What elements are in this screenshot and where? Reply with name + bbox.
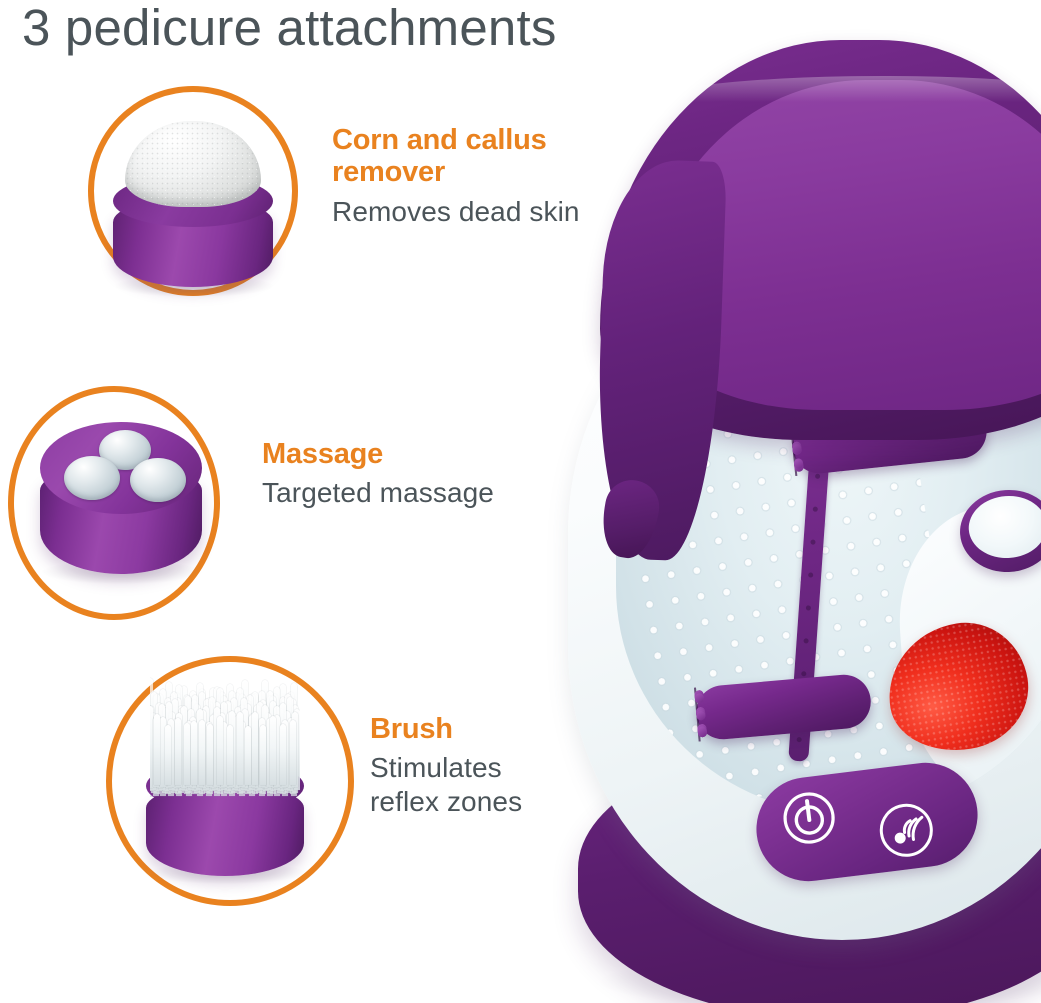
brush-bristle: [270, 716, 276, 785]
brush-bristle: [252, 712, 258, 785]
infographic-page: 3 pedicure attachments Corn and callus r…: [0, 0, 1041, 1003]
brush-bristle: [191, 721, 197, 785]
feature-text-massage: Massage Targeted massage: [262, 438, 494, 510]
feature-text-corn-and-callus-remover: Corn and callus remover Removes dead ski…: [332, 124, 580, 229]
massage-nub: [130, 458, 186, 502]
hood-highlight-seam: [648, 76, 1041, 102]
foot-spa-massager: [560, 40, 1041, 1000]
feature-description-corn: Removes dead skin: [332, 195, 580, 229]
feature-text-brush: Brush Stimulates reflex zones: [370, 713, 522, 819]
attachment-purple-base: [146, 784, 304, 876]
brush-bristle: [175, 718, 181, 785]
power-icon: [778, 787, 840, 849]
rail-dot: [810, 539, 815, 544]
vibration-waves-icon: [874, 798, 939, 863]
power-button[interactable]: [778, 787, 840, 849]
feature-heading-massage: Massage: [262, 438, 494, 470]
feature-description-brush-line2: reflex zones: [370, 785, 522, 819]
pumice-stone-attachment: [105, 115, 280, 295]
brush-bristle: [154, 714, 160, 785]
brush-bristle: [290, 720, 296, 785]
rail-dot: [806, 605, 811, 610]
brush-bristle: [199, 720, 205, 785]
page-title: 3 pedicure attachments: [22, 0, 557, 57]
rail-dot: [815, 474, 820, 479]
bristle-brush-attachment: [128, 672, 323, 882]
vibration-button[interactable]: [874, 798, 939, 863]
massage-nub-attachment: [32, 412, 212, 592]
feature-description-massage: Targeted massage: [262, 476, 494, 510]
pumice-stone-dome: [125, 121, 261, 207]
brush-bristles: [150, 672, 300, 797]
feature-heading-corn-line1: Corn and callus: [332, 124, 580, 156]
feature-heading-corn-line2: remover: [332, 156, 580, 188]
infrared-light: [879, 614, 1037, 760]
brush-bristle: [217, 716, 223, 785]
massage-nub: [64, 456, 120, 500]
rail-dot: [801, 671, 806, 676]
roller-nub: [696, 711, 706, 721]
brush-bristle: [207, 724, 213, 785]
feature-heading-brush: Brush: [370, 713, 522, 745]
attachment-top-face: [40, 422, 202, 514]
brush-bristle: [227, 725, 233, 785]
brush-bristle: [237, 712, 243, 785]
brush-bristle: [245, 726, 251, 785]
rail-dot: [803, 638, 808, 643]
pumice-grain-texture: [125, 121, 261, 207]
rail-dot: [797, 737, 802, 742]
brush-bristle: [260, 725, 266, 785]
attachment-mount-face: [967, 493, 1041, 560]
brush-bristle: [184, 723, 190, 785]
brush-bristle: [165, 725, 171, 785]
infrared-light-texture: [879, 614, 1037, 760]
rail-dot: [808, 572, 813, 577]
brush-bristle: [280, 724, 286, 785]
rail-dot: [813, 507, 818, 512]
feature-description-brush-line1: Stimulates: [370, 751, 522, 785]
